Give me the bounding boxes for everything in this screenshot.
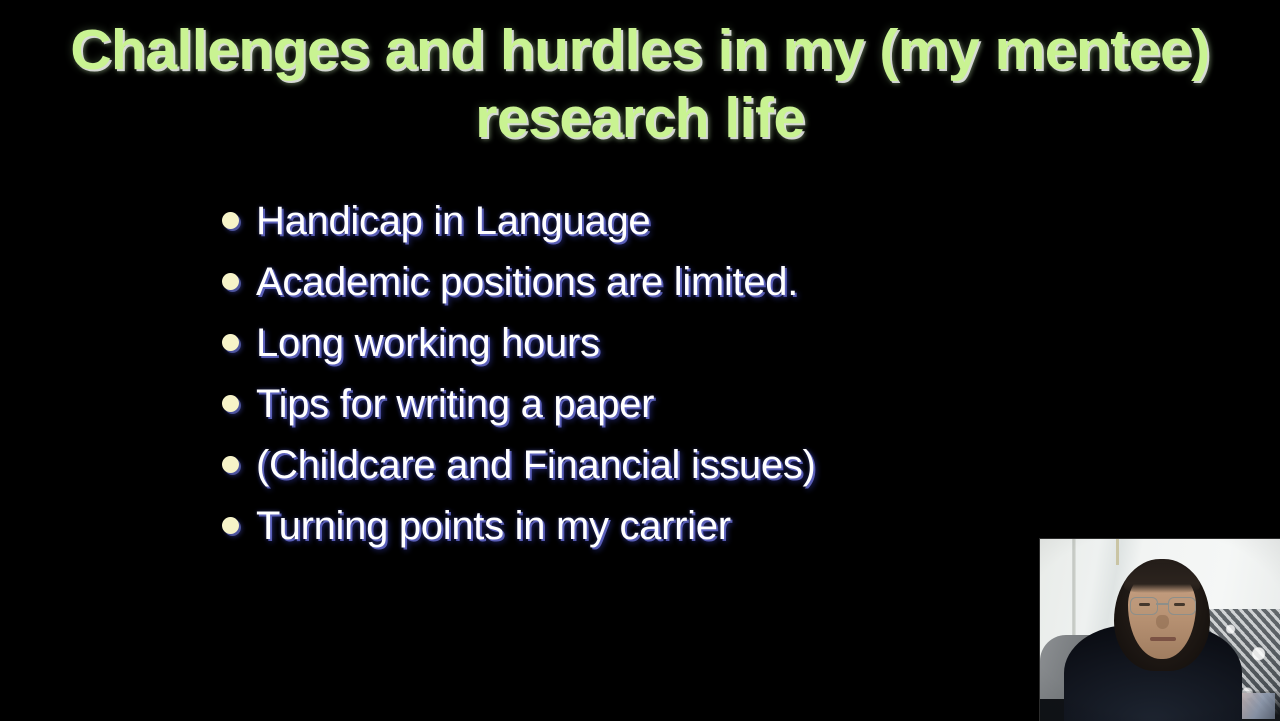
bullet-dot-icon bbox=[222, 212, 239, 229]
webcam-person-mouth bbox=[1150, 637, 1176, 641]
bullet-text: Academic positions are limited. bbox=[256, 259, 798, 305]
glasses-bridge bbox=[1156, 603, 1168, 605]
glasses-lens-left bbox=[1130, 597, 1158, 615]
bullet-dot-icon bbox=[222, 517, 239, 534]
bullet-text: (Childcare and Financial issues) bbox=[256, 442, 816, 488]
bullet-text: Handicap in Language bbox=[256, 198, 650, 244]
bullet-text: Tips for writing a paper bbox=[256, 381, 654, 427]
list-item: Turning points in my carrier bbox=[218, 495, 1158, 556]
list-item: Handicap in Language bbox=[218, 190, 1158, 251]
bullet-text: Turning points in my carrier bbox=[256, 503, 731, 549]
presenter-webcam-overlay[interactable] bbox=[1039, 538, 1280, 721]
title-line-1: Challenges and hurdles in my (my mentee) bbox=[40, 16, 1240, 84]
bullet-list: Handicap in Language Academic positions … bbox=[218, 190, 1158, 556]
list-item: Long working hours bbox=[218, 312, 1158, 373]
presentation-slide: Challenges and hurdles in my (my mentee)… bbox=[0, 0, 1280, 720]
list-item: Academic positions are limited. bbox=[218, 251, 1158, 312]
list-item: Tips for writing a paper bbox=[218, 373, 1158, 434]
webcam-door-frame-trim bbox=[1116, 539, 1119, 565]
webcam-person-glasses-icon bbox=[1128, 597, 1196, 614]
webcam-person-nose bbox=[1156, 615, 1169, 629]
webcam-video-frame bbox=[1040, 539, 1280, 721]
glasses-lens-right bbox=[1168, 597, 1196, 615]
slide-title: Challenges and hurdles in my (my mentee)… bbox=[40, 16, 1240, 152]
bullet-dot-icon bbox=[222, 395, 239, 412]
bullet-dot-icon bbox=[222, 456, 239, 473]
bullet-dot-icon bbox=[222, 273, 239, 290]
bullet-text: Long working hours bbox=[256, 320, 600, 366]
bullet-dot-icon bbox=[222, 334, 239, 351]
title-line-2: research life bbox=[40, 84, 1240, 152]
list-item: (Childcare and Financial issues) bbox=[218, 434, 1158, 495]
